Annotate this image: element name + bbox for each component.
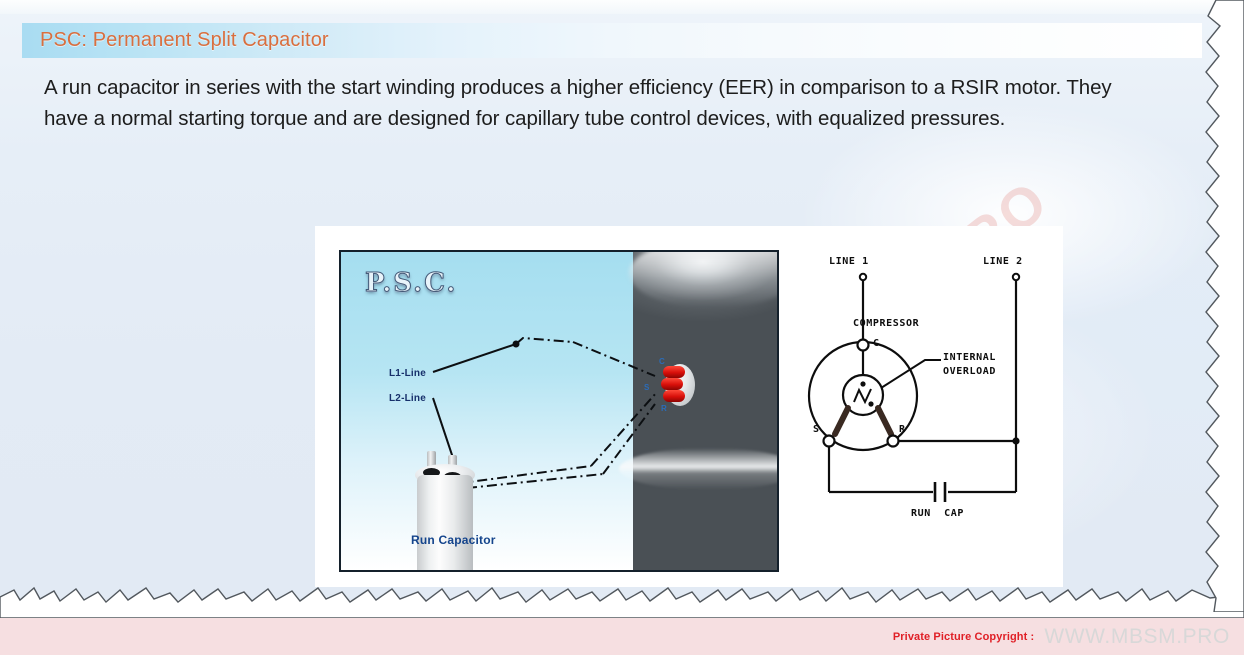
plug-pin-c: [663, 366, 685, 378]
footer-band: Private Picture Copyright : WWW.MBSM.PRO: [0, 618, 1244, 655]
label-l1-line: L1-Line: [389, 368, 426, 379]
plug-pin-r: [663, 390, 685, 402]
site-url[interactable]: WWW.MBSM.PRO: [1044, 625, 1230, 649]
footer-spacer: [0, 618, 940, 655]
label-run-capacitor: Run Capacitor: [411, 533, 496, 547]
body-paragraph: A run capacitor in series with the start…: [44, 72, 1154, 134]
label-overload: OVERLOAD: [943, 366, 996, 377]
label-compressor: COMPRESSOR: [853, 318, 919, 329]
footer-credits: Private Picture Copyright : WWW.MBSM.PRO: [893, 618, 1230, 655]
label-terminal-r: R: [899, 424, 906, 435]
label-run-cap: RUN CAP: [911, 508, 964, 519]
label-line-1: LINE 1: [829, 256, 869, 267]
compressor-terminal-plug: [655, 364, 695, 406]
label-terminal-s: S: [813, 424, 820, 435]
run-capacitor-body: [417, 475, 473, 572]
slide-root: PSC: Permanent Split Capacitor A run cap…: [0, 0, 1244, 655]
label-l2-line: L2-Line: [389, 393, 426, 404]
plug-pin-s: [661, 378, 683, 390]
wiring-schematic: LINE 1 LINE 2 COMPRESSOR C S R INTERNAL …: [807, 256, 1039, 566]
plug-label-s: S: [644, 383, 649, 392]
label-line-2: LINE 2: [983, 256, 1023, 267]
title-band: PSC: Permanent Split Capacitor: [22, 23, 1202, 58]
plug-label-r: R: [661, 404, 667, 413]
wiring-overlay: [341, 252, 779, 572]
plug-label-c: C: [659, 357, 665, 366]
page-title: PSC: Permanent Split Capacitor: [40, 29, 329, 52]
psc-photograph: P.S.C.: [339, 250, 779, 572]
label-terminal-c: C: [873, 338, 880, 349]
figure-panel: P.S.C.: [315, 226, 1063, 587]
label-internal: INTERNAL: [943, 352, 996, 363]
copyright-label: Private Picture Copyright :: [893, 631, 1034, 643]
